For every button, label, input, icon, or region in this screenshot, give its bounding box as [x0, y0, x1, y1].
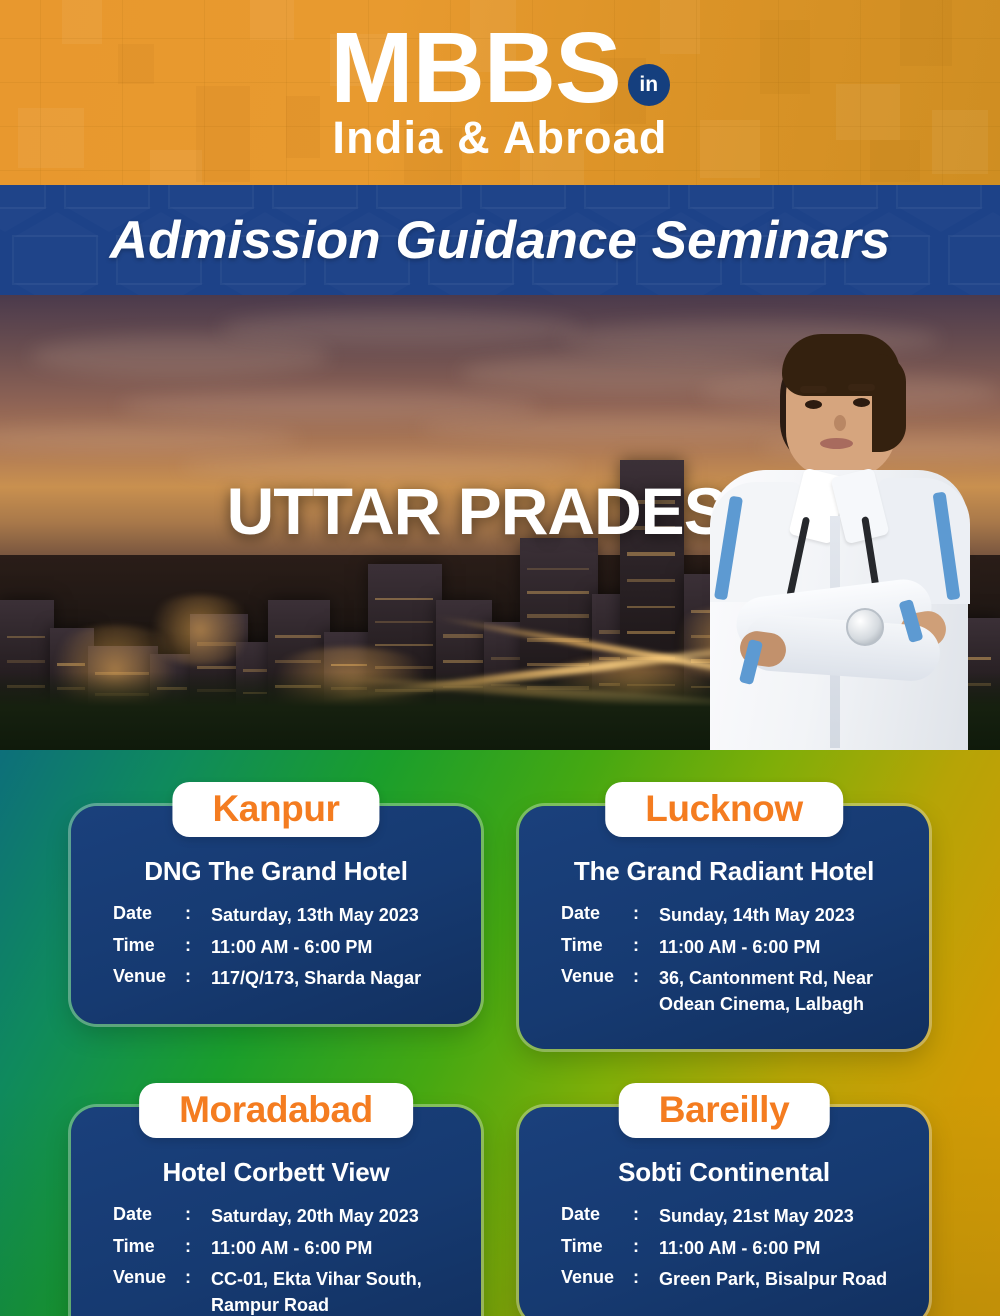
detail-value: Sunday, 21st May 2023: [659, 1204, 854, 1230]
seminar-card[interactable]: Moradabad Hotel Corbett View Date : Satu…: [71, 1083, 481, 1316]
detail-colon: :: [633, 1204, 659, 1225]
detail-colon: :: [633, 966, 659, 987]
detail-colon: :: [185, 966, 211, 987]
detail-label: Time: [113, 935, 185, 956]
detail-label: Date: [113, 1204, 185, 1225]
detail-rows: Date : Saturday, 20th May 2023 Time : 11…: [89, 1204, 463, 1316]
card-body: DNG The Grand Hotel Date : Saturday, 13t…: [71, 806, 481, 1024]
detail-value: 117/Q/173, Sharda Nagar: [211, 966, 421, 992]
detail-value: 11:00 AM - 6:00 PM: [211, 1236, 372, 1262]
venue-hotel-name: Sobti Continental: [537, 1157, 911, 1188]
doctor-figure: [704, 320, 972, 750]
card-body: Hotel Corbett View Date : Saturday, 20th…: [71, 1107, 481, 1316]
detail-colon: :: [633, 1267, 659, 1288]
detail-label: Date: [561, 1204, 633, 1225]
detail-value: Saturday, 20th May 2023: [211, 1204, 419, 1230]
city-pill[interactable]: Moradabad: [139, 1083, 413, 1138]
stethoscope-chestpiece-icon: [846, 608, 884, 646]
detail-colon: :: [633, 1236, 659, 1257]
detail-row: Venue : 117/Q/173, Sharda Nagar: [113, 966, 463, 992]
detail-row: Venue : CC-01, Ekta Vihar South,Rampur R…: [113, 1267, 463, 1316]
detail-label: Date: [561, 903, 633, 924]
venue-hotel-name: The Grand Radiant Hotel: [537, 856, 911, 887]
seminar-card[interactable]: Kanpur DNG The Grand Hotel Date : Saturd…: [71, 782, 481, 1049]
detail-row: Time : 11:00 AM - 6:00 PM: [561, 935, 911, 961]
detail-rows: Date : Saturday, 13th May 2023 Time : 11…: [89, 903, 463, 992]
brand-title: MBBS: [330, 22, 620, 114]
detail-colon: :: [185, 903, 211, 924]
seminar-schedule-section: Kanpur DNG The Grand Hotel Date : Saturd…: [0, 750, 1000, 1316]
brand-subtitle: India & Abroad: [332, 112, 667, 164]
detail-colon: :: [633, 935, 659, 956]
banner-title: Admission Guidance Seminars: [110, 210, 891, 271]
brand-lockup: MBBS in: [330, 22, 669, 114]
city-pill[interactable]: Bareilly: [619, 1083, 830, 1138]
domain-badge-label: in: [639, 74, 658, 95]
detail-colon: :: [185, 1267, 211, 1288]
doctor-brow-right: [848, 384, 875, 391]
hero-image: UTTAR PRADESH: [0, 295, 1000, 750]
detail-label: Date: [113, 903, 185, 924]
detail-label: Venue: [561, 966, 633, 987]
detail-row: Date : Sunday, 14th May 2023: [561, 903, 911, 929]
domain-badge-icon: in: [628, 64, 670, 106]
detail-colon: :: [185, 1204, 211, 1225]
detail-value: Sunday, 14th May 2023: [659, 903, 855, 929]
venue-hotel-name: Hotel Corbett View: [89, 1157, 463, 1188]
detail-row: Time : 11:00 AM - 6:00 PM: [113, 1236, 463, 1262]
detail-label: Venue: [561, 1267, 633, 1288]
detail-label: Time: [113, 1236, 185, 1257]
detail-label: Time: [561, 935, 633, 956]
seminar-banner: Admission Guidance Seminars: [0, 185, 1000, 295]
detail-value: 11:00 AM - 6:00 PM: [659, 1236, 820, 1262]
detail-rows: Date : Sunday, 21st May 2023 Time : 11:0…: [537, 1204, 911, 1293]
seminar-card[interactable]: Bareilly Sobti Continental Date : Sunday…: [519, 1083, 929, 1316]
seminar-card-grid: Kanpur DNG The Grand Hotel Date : Saturd…: [0, 750, 1000, 1316]
detail-value: 11:00 AM - 6:00 PM: [659, 935, 820, 961]
doctor-nose: [834, 415, 846, 431]
city-name: Bareilly: [659, 1090, 790, 1129]
doctor-lips: [820, 438, 853, 449]
seminar-poster: MBBS in India & Abroad Admission Guidanc…: [0, 0, 1000, 1316]
detail-label: Venue: [113, 966, 185, 987]
detail-value: 11:00 AM - 6:00 PM: [211, 935, 372, 961]
detail-rows: Date : Sunday, 14th May 2023 Time : 11:0…: [537, 903, 911, 1017]
detail-colon: :: [185, 935, 211, 956]
city-name: Kanpur: [212, 789, 339, 828]
city-pill[interactable]: Lucknow: [605, 782, 843, 837]
detail-label: Time: [561, 1236, 633, 1257]
city-pill[interactable]: Kanpur: [172, 782, 379, 837]
detail-row: Date : Sunday, 21st May 2023: [561, 1204, 911, 1230]
detail-colon: :: [633, 903, 659, 924]
seminar-card[interactable]: Lucknow The Grand Radiant Hotel Date : S…: [519, 782, 929, 1049]
doctor-hair-side: [872, 354, 906, 452]
doctor-brow-left: [800, 386, 827, 393]
detail-value: CC-01, Ekta Vihar South,Rampur Road: [211, 1267, 422, 1316]
detail-value: 36, Cantonment Rd, NearOdean Cinema, Lal…: [659, 966, 873, 1017]
detail-value: Green Park, Bisalpur Road: [659, 1267, 887, 1293]
detail-row: Venue : 36, Cantonment Rd, NearOdean Cin…: [561, 966, 911, 1017]
detail-colon: :: [185, 1236, 211, 1257]
doctor-eye-left: [805, 400, 822, 409]
detail-row: Venue : Green Park, Bisalpur Road: [561, 1267, 911, 1293]
detail-value: Saturday, 13th May 2023: [211, 903, 419, 929]
card-body: Sobti Continental Date : Sunday, 21st Ma…: [519, 1107, 929, 1316]
detail-row: Time : 11:00 AM - 6:00 PM: [561, 1236, 911, 1262]
venue-hotel-name: DNG The Grand Hotel: [89, 856, 463, 887]
brand-header: MBBS in India & Abroad: [0, 0, 1000, 185]
city-name: Moradabad: [179, 1090, 373, 1129]
detail-row: Date : Saturday, 13th May 2023: [113, 903, 463, 929]
detail-row: Time : 11:00 AM - 6:00 PM: [113, 935, 463, 961]
city-name: Lucknow: [645, 789, 803, 828]
detail-label: Venue: [113, 1267, 185, 1288]
detail-row: Date : Saturday, 20th May 2023: [113, 1204, 463, 1230]
card-body: The Grand Radiant Hotel Date : Sunday, 1…: [519, 806, 929, 1049]
doctor-eye-right: [853, 398, 870, 407]
